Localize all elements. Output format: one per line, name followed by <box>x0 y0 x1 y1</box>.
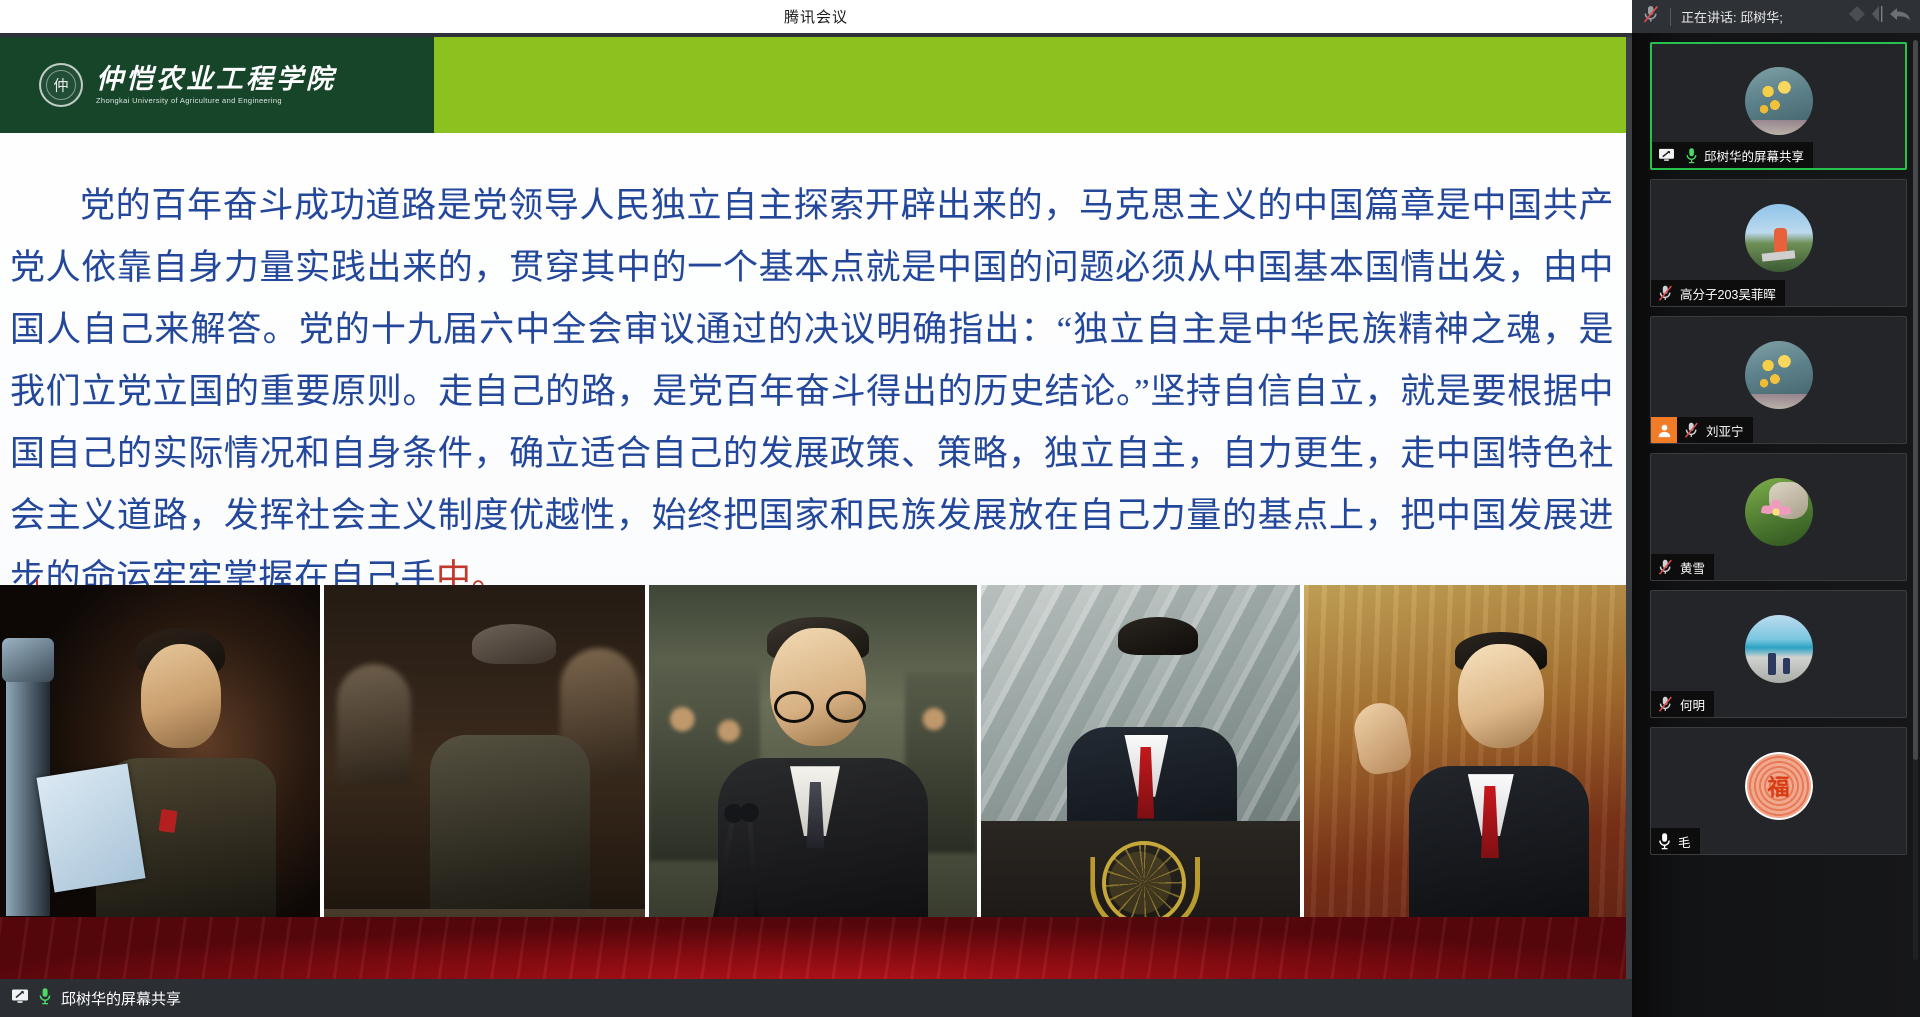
slide-paragraph-main: 党的百年奋斗成功道路是党领导人民独立自主探索开辟出来的，马克思主义的中国篇章是中… <box>10 186 1614 597</box>
participant-name: 刘亚宁 <box>1704 421 1753 440</box>
restore-icon[interactable] <box>1870 3 1886 30</box>
mic-muted-icon <box>1642 4 1660 29</box>
mic-on-icon <box>1679 147 1702 164</box>
tile-badge: 刘亚宁 <box>1651 417 1753 443</box>
participant-name: 黄雪 <box>1678 558 1714 577</box>
screen-share-icon <box>1652 148 1679 162</box>
university-name-en: Zhongkai University of Agriculture and E… <box>96 96 336 105</box>
slide-header-right-block <box>434 37 1632 133</box>
mic-muted-icon <box>1677 421 1704 439</box>
slide-paragraph: 党的百年奋斗成功道路是党领导人民独立自主探索开辟出来的，马克思主义的中国篇章是中… <box>10 175 1614 609</box>
participant-tile-1[interactable]: 高分子203吴菲晖 <box>1650 179 1907 307</box>
avatar <box>1745 478 1813 546</box>
tile-badge: 黄雪 <box>1651 554 1714 580</box>
tile-badge: 毛 <box>1651 828 1700 854</box>
slide-header-band: 仲恺农业工程学院 Zhongkai University of Agricult… <box>0 37 1632 133</box>
panel-divider <box>1626 37 1632 979</box>
participant-name: 毛 <box>1676 832 1700 851</box>
active-speaker-label: 正在讲话: 邱树华; <box>1681 7 1783 26</box>
leader-photo-strip <box>0 585 1632 979</box>
university-seal-icon <box>39 63 83 107</box>
university-name-block: 仲恺农业工程学院 Zhongkai University of Agricult… <box>96 65 336 104</box>
avatar <box>1745 341 1813 409</box>
tile-badge: 邱树华的屏幕共享 <box>1652 142 1813 168</box>
scrollbar-thumb[interactable] <box>1913 40 1918 760</box>
presentation-slide: 仲恺农业工程学院 Zhongkai University of Agricult… <box>0 37 1632 979</box>
window-title: 腾讯会议 <box>784 6 848 27</box>
participant-tile-4[interactable]: 何明 <box>1650 590 1907 718</box>
stage-drape <box>0 917 1632 979</box>
speaker-bar-divider <box>1670 8 1671 26</box>
participants-panel: 正在讲话: 邱树华; <box>1632 0 1920 1017</box>
avatar <box>1745 615 1813 683</box>
avatar <box>1745 67 1813 135</box>
university-logo: 仲恺农业工程学院 Zhongkai University of Agricult… <box>0 63 336 107</box>
back-arrow-icon[interactable] <box>1888 3 1912 30</box>
window-controls <box>1846 0 1912 33</box>
participant-tile-3[interactable]: 黄雪 <box>1650 453 1907 581</box>
participants-scrollbar[interactable] <box>1913 40 1918 960</box>
tile-badge: 何明 <box>1651 691 1714 717</box>
host-badge-icon <box>1651 417 1677 443</box>
participant-name: 邱树华的屏幕共享 <box>1702 146 1813 165</box>
shared-screen-area[interactable]: 仲恺农业工程学院 Zhongkai University of Agricult… <box>0 37 1632 979</box>
mic-muted-icon <box>1651 284 1678 302</box>
participant-tile-list: 邱树华的屏幕共享 高分子203吴菲晖 <box>1632 33 1920 1017</box>
participant-tile-5[interactable]: 毛 <box>1650 727 1907 855</box>
participant-tile-2[interactable]: 刘亚宁 <box>1650 316 1907 444</box>
active-speaker-bar: 正在讲话: 邱树华; <box>1632 0 1920 33</box>
mic-on-icon <box>1651 832 1676 850</box>
window-title-bar: 腾讯会议 <box>0 0 1632 33</box>
slide-body: 党的百年奋斗成功道路是党领导人民独立自主探索开辟出来的，马克思主义的中国篇章是中… <box>0 133 1632 613</box>
screen-share-icon <box>11 987 29 1010</box>
participant-name: 高分子203吴菲晖 <box>1678 284 1785 303</box>
tile-badge: 高分子203吴菲晖 <box>1651 280 1785 306</box>
university-name-cn: 仲恺农业工程学院 <box>96 65 336 93</box>
meeting-window: 腾讯会议 仲恺农业工程学院 Zhongkai University of Agr… <box>0 0 1920 1017</box>
avatar <box>1745 204 1813 272</box>
participant-tile-0[interactable]: 邱树华的屏幕共享 <box>1650 42 1907 170</box>
participant-name: 何明 <box>1678 695 1714 714</box>
minimize-icon[interactable] <box>1846 3 1868 30</box>
avatar <box>1745 752 1813 820</box>
slide-header-left-block: 仲恺农业工程学院 Zhongkai University of Agricult… <box>0 37 434 133</box>
mic-muted-icon <box>1651 695 1678 713</box>
share-status-bar[interactable]: 邱树华的屏幕共享 <box>0 979 1632 1017</box>
share-status-label: 邱树华的屏幕共享 <box>61 988 181 1009</box>
mic-on-icon <box>38 987 52 1010</box>
mic-muted-icon <box>1651 558 1678 576</box>
